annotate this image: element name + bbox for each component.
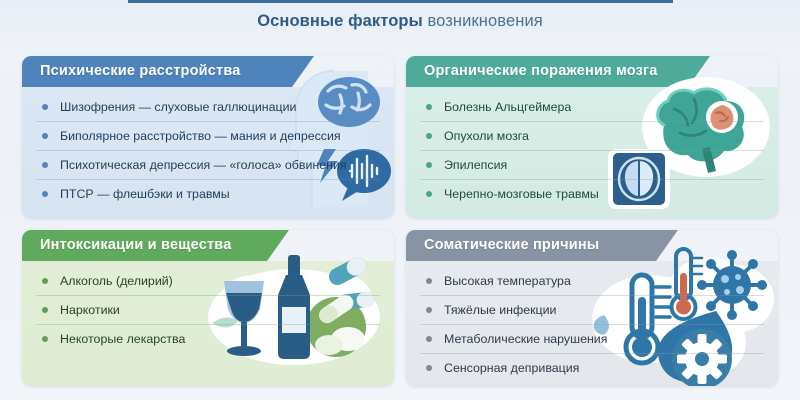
card-body: Высокая температура Тяжёлые инфекции Мет… bbox=[406, 261, 778, 386]
list-item[interactable]: Сенсорная депривация bbox=[420, 353, 764, 382]
list-item-label: Наркотики bbox=[60, 303, 120, 317]
bullet-dot-icon bbox=[42, 162, 48, 168]
card-title: Психические расстройства bbox=[40, 56, 241, 87]
card-psychiatric-disorders[interactable]: Психические расстройства bbox=[22, 56, 394, 218]
factors-grid: Психические расстройства bbox=[22, 56, 778, 386]
bullet-dot-icon bbox=[42, 104, 48, 110]
list-item[interactable]: Некоторые лекарства bbox=[36, 324, 380, 353]
card-title: Органические поражения мозга bbox=[424, 56, 658, 87]
header-rule bbox=[128, 0, 673, 3]
list-item[interactable]: Шизофрения — слуховые галлюцинации bbox=[36, 93, 380, 121]
list-item[interactable]: Алкоголь (делирий) bbox=[36, 267, 380, 295]
bullet-dot-icon bbox=[426, 191, 432, 197]
list-item[interactable]: Эпилепсия bbox=[420, 150, 764, 179]
list-item-label: Сенсорная депривация bbox=[444, 361, 579, 375]
card-header: Органические поражения мозга bbox=[406, 56, 778, 87]
card-body: Алкоголь (делирий) Наркотики Некоторые л… bbox=[22, 261, 394, 386]
list-item[interactable]: Высокая температура bbox=[420, 267, 764, 295]
list-item-label: Опухоли мозга bbox=[444, 129, 529, 143]
card-bullet-list: Алкоголь (делирий) Наркотики Некоторые л… bbox=[22, 267, 394, 353]
card-intoxication-substances[interactable]: Интоксикации и вещества bbox=[22, 230, 394, 386]
list-item[interactable]: Опухоли мозга bbox=[420, 121, 764, 150]
bullet-dot-icon bbox=[426, 162, 432, 168]
list-item-label: Алкоголь (делирий) bbox=[60, 274, 173, 288]
bullet-dot-icon bbox=[426, 307, 432, 313]
list-item-label: Психотическая депрессия — «голоса» обвин… bbox=[60, 158, 347, 172]
bullet-dot-icon bbox=[426, 336, 432, 342]
card-body: Болезнь Альцгеймера Опухоли мозга Эпилеп… bbox=[406, 87, 778, 218]
list-item-label: Эпилепсия bbox=[444, 158, 507, 172]
list-item[interactable]: Биполярное расстройство — мания и депрес… bbox=[36, 121, 380, 150]
card-header: Соматические причины bbox=[406, 230, 778, 261]
list-item[interactable]: Метаболические нарушения bbox=[420, 324, 764, 353]
card-header: Интоксикации и вещества bbox=[22, 230, 394, 261]
page-title-strong: Основные факторы bbox=[257, 12, 423, 30]
card-somatic-causes[interactable]: Соматические причины bbox=[406, 230, 778, 386]
list-item[interactable]: Наркотики bbox=[36, 295, 380, 324]
page-title-light: возникновения bbox=[428, 12, 543, 30]
card-bullet-list: Болезнь Альцгеймера Опухоли мозга Эпилеп… bbox=[406, 93, 778, 208]
card-body: Шизофрения — слуховые галлюцинации Бипол… bbox=[22, 87, 394, 218]
card-bullet-list: Шизофрения — слуховые галлюцинации Бипол… bbox=[22, 93, 394, 208]
list-item-label: Черепно-мозговые травмы bbox=[444, 187, 599, 201]
list-item-label: Метаболические нарушения bbox=[444, 332, 607, 346]
bullet-dot-icon bbox=[42, 336, 48, 342]
card-header: Психические расстройства bbox=[22, 56, 394, 87]
list-item[interactable]: ПТСР — флешбэки и травмы bbox=[36, 179, 380, 208]
bullet-dot-icon bbox=[42, 191, 48, 197]
bullet-dot-icon bbox=[426, 278, 432, 284]
list-item-label: Болезнь Альцгеймера bbox=[444, 100, 571, 114]
bullet-dot-icon bbox=[426, 133, 432, 139]
list-item-label: Тяжёлые инфекции bbox=[444, 303, 556, 317]
list-item[interactable]: Тяжёлые инфекции bbox=[420, 295, 764, 324]
bullet-dot-icon bbox=[426, 365, 432, 371]
card-title: Интоксикации и вещества bbox=[40, 230, 231, 261]
bullet-dot-icon bbox=[42, 133, 48, 139]
list-item-label: Биполярное расстройство — мания и депрес… bbox=[60, 129, 341, 143]
list-item[interactable]: Психотическая депрессия — «голоса» обвин… bbox=[36, 150, 380, 179]
list-item[interactable]: Черепно-мозговые травмы bbox=[420, 179, 764, 208]
page-title: Основные факторы возникновения bbox=[0, 12, 800, 31]
card-title: Соматические причины bbox=[424, 230, 599, 261]
header-strip: Основные факторы возникновения bbox=[0, 0, 800, 46]
list-item-label: Шизофрения — слуховые галлюцинации bbox=[60, 100, 296, 114]
bullet-dot-icon bbox=[426, 104, 432, 110]
card-organic-brain-damage[interactable]: Органические поражения мозга bbox=[406, 56, 778, 218]
list-item-label: ПТСР — флешбэки и травмы bbox=[60, 187, 230, 201]
list-item-label: Высокая температура bbox=[444, 274, 571, 288]
bullet-dot-icon bbox=[42, 278, 48, 284]
bullet-dot-icon bbox=[42, 307, 48, 313]
list-item[interactable]: Болезнь Альцгеймера bbox=[420, 93, 764, 121]
card-bullet-list: Высокая температура Тяжёлые инфекции Мет… bbox=[406, 267, 778, 382]
list-item-label: Некоторые лекарства bbox=[60, 332, 185, 346]
